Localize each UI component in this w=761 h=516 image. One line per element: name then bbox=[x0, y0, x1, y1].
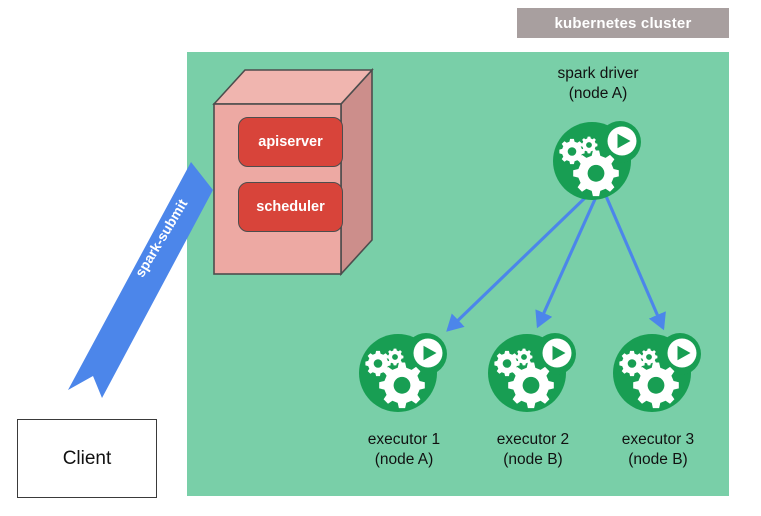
node-icon-spark-driver[interactable] bbox=[552, 117, 644, 203]
cube-shape-icon bbox=[210, 62, 375, 278]
spark-submit-arrow bbox=[60, 160, 215, 405]
diagram-canvas: kubernetes cluster apiserver scheduler s… bbox=[0, 0, 761, 516]
spark-node-gears-icon bbox=[487, 329, 579, 415]
cluster-title-badge: kubernetes cluster bbox=[517, 8, 729, 38]
node-label-line1: executor 1 bbox=[329, 430, 479, 450]
node-label-spark-driver: spark driver (node A) bbox=[523, 64, 673, 105]
spark-node-gears-icon bbox=[612, 329, 704, 415]
node-icon-executor-2[interactable] bbox=[487, 329, 579, 415]
node-label-line2: (node B) bbox=[583, 450, 733, 470]
client-label: Client bbox=[63, 448, 112, 470]
node-label-line2: (node A) bbox=[329, 450, 479, 470]
node-label-line1: executor 3 bbox=[583, 430, 733, 450]
component-box-scheduler[interactable]: scheduler bbox=[238, 182, 343, 232]
node-label-executor-3: executor 3 (node B) bbox=[583, 430, 733, 471]
node-icon-executor-3[interactable] bbox=[612, 329, 704, 415]
node-label-line1: spark driver bbox=[523, 64, 673, 84]
component-label: apiserver bbox=[258, 134, 323, 150]
component-label: scheduler bbox=[256, 199, 325, 215]
control-plane-cube: apiserver scheduler bbox=[210, 62, 375, 278]
spark-node-gears-icon bbox=[552, 117, 644, 203]
node-label-line2: (node A) bbox=[523, 84, 673, 104]
cluster-title-label: kubernetes cluster bbox=[555, 15, 692, 32]
spark-node-gears-icon bbox=[358, 329, 450, 415]
ribbon-arrow-icon bbox=[60, 160, 215, 405]
node-label-executor-1: executor 1 (node A) bbox=[329, 430, 479, 471]
node-icon-executor-1[interactable] bbox=[358, 329, 450, 415]
component-box-apiserver[interactable]: apiserver bbox=[238, 117, 343, 167]
client-box[interactable]: Client bbox=[17, 419, 157, 498]
